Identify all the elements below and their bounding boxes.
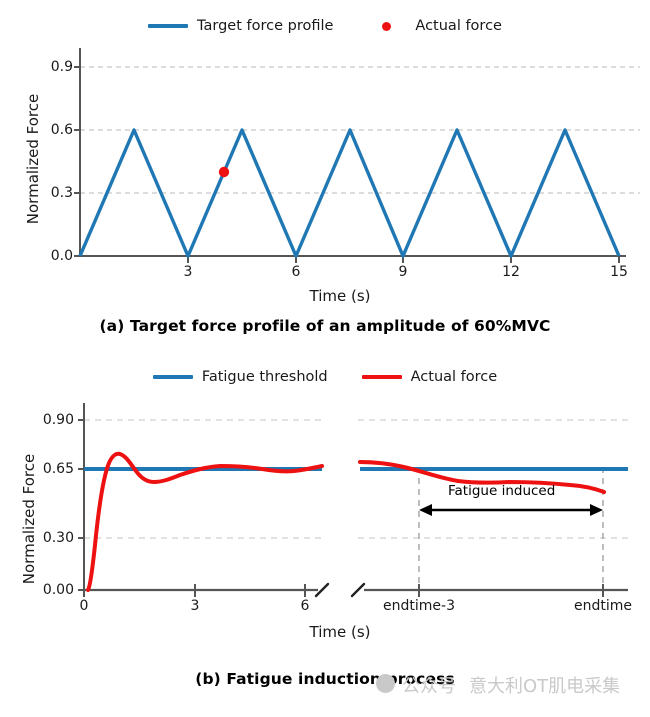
x-tick-label: 15: [589, 264, 649, 280]
fatigue-induced-arrow: [419, 504, 603, 516]
x-tick-label: 3: [158, 264, 218, 280]
figure-b-fatigue-induction: Fatigue threshold Actual force Normalize…: [0, 355, 650, 717]
figure-a-plot-area: [0, 0, 650, 300]
figure-a-caption: (a) Target force profile of an amplitude…: [0, 317, 650, 335]
figure-a-x-axis-label: Time (s): [30, 287, 650, 305]
x-tick-label: 12: [481, 264, 541, 280]
figure-a-target-force-profile: Target force profile Actual force Normal…: [0, 0, 650, 355]
figure-a-gridlines: [80, 67, 640, 193]
watermark-text: 意大利OT肌电采集: [469, 672, 620, 698]
axis-break-icon: [316, 584, 364, 596]
watermark-avatar-icon: [376, 674, 395, 693]
series-actual-force-marker: [219, 167, 229, 177]
fatigue-induced-label: Fatigue induced: [448, 483, 555, 499]
x-tick-label: endtime-3: [364, 598, 474, 614]
series-actual-force-left: [88, 454, 322, 590]
watermark-text: 公众号: [402, 672, 456, 698]
x-tick-label: endtime: [558, 598, 648, 614]
x-tick-label: 6: [275, 598, 335, 614]
figure-b-x-axis-label: Time (s): [30, 623, 650, 641]
x-tick-label: 9: [373, 264, 433, 280]
x-tick-label: 0: [54, 598, 114, 614]
x-tick-label: 3: [165, 598, 225, 614]
series-target-force-profile: [80, 130, 619, 256]
x-tick-label: 6: [266, 264, 326, 280]
